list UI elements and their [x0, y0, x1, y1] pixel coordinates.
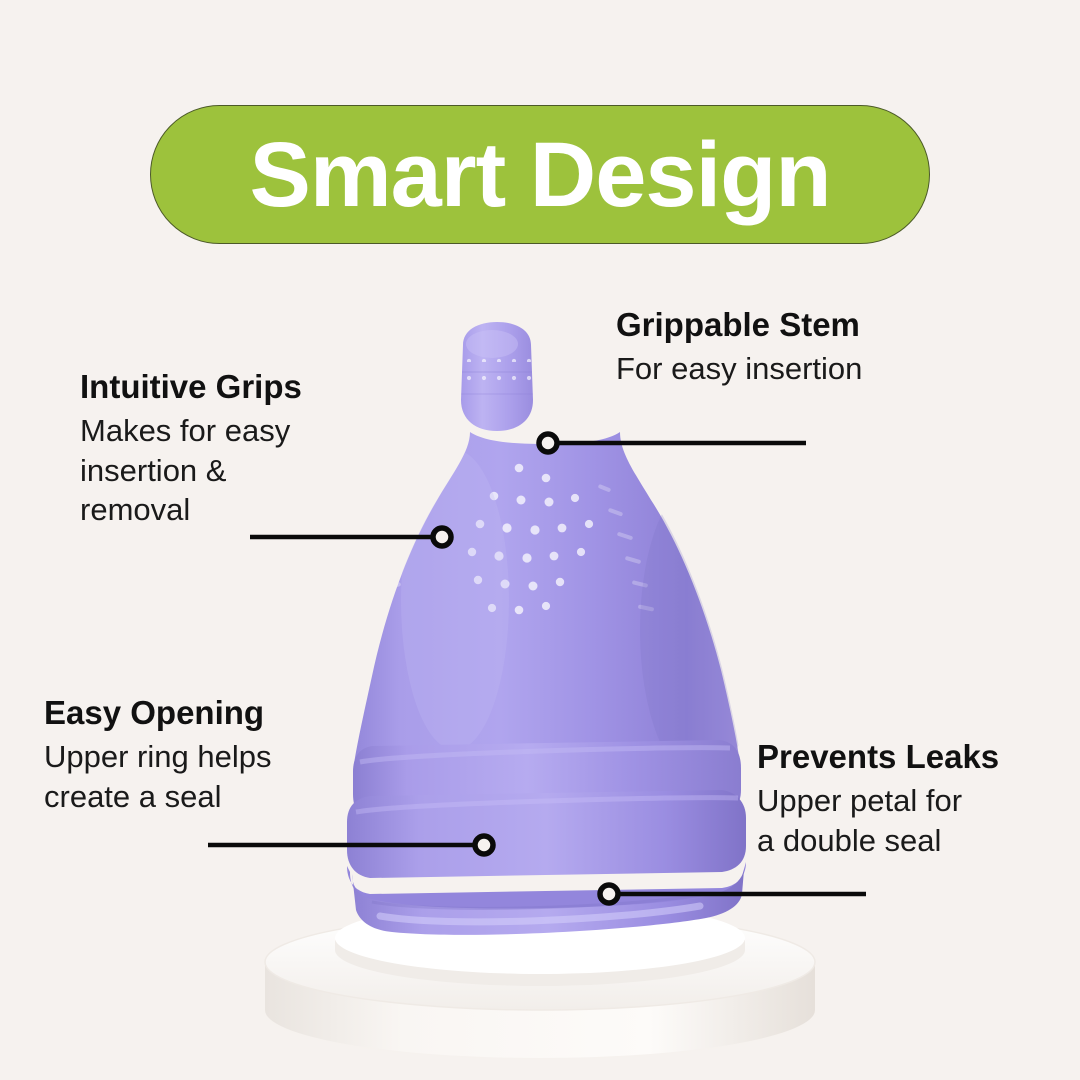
callout-title-prevents-leaks: Prevents Leaks [757, 738, 999, 777]
page-title: Smart Design [249, 129, 830, 221]
callout-title-grippable-stem: Grippable Stem [616, 306, 862, 345]
callout-prevents-leaks: Prevents Leaks Upper petal for a double … [757, 738, 999, 860]
callout-body-grippable-stem: For easy insertion [616, 349, 862, 389]
callout-intuitive-grips: Intuitive Grips Makes for easy insertion… [80, 368, 302, 530]
callout-body-intuitive-grips: Makes for easy insertion & removal [80, 411, 302, 530]
leader-marker-intuitive-grips [433, 528, 451, 546]
leader-marker-grippable-stem [539, 434, 557, 452]
smart-design-infographic: Smart Design Intuitive Grips Makes for e… [0, 0, 1080, 1080]
leader-marker-easy-opening [475, 836, 493, 854]
callout-grippable-stem: Grippable Stem For easy insertion [616, 306, 862, 389]
callout-easy-opening: Easy Opening Upper ring helps create a s… [44, 694, 271, 816]
page-title-pill: Smart Design [150, 105, 930, 244]
callout-title-intuitive-grips: Intuitive Grips [80, 368, 302, 407]
callout-title-easy-opening: Easy Opening [44, 694, 271, 733]
leader-marker-prevents-leaks [600, 885, 618, 903]
callout-body-prevents-leaks: Upper petal for a double seal [757, 781, 999, 860]
callout-body-easy-opening: Upper ring helps create a seal [44, 737, 271, 816]
